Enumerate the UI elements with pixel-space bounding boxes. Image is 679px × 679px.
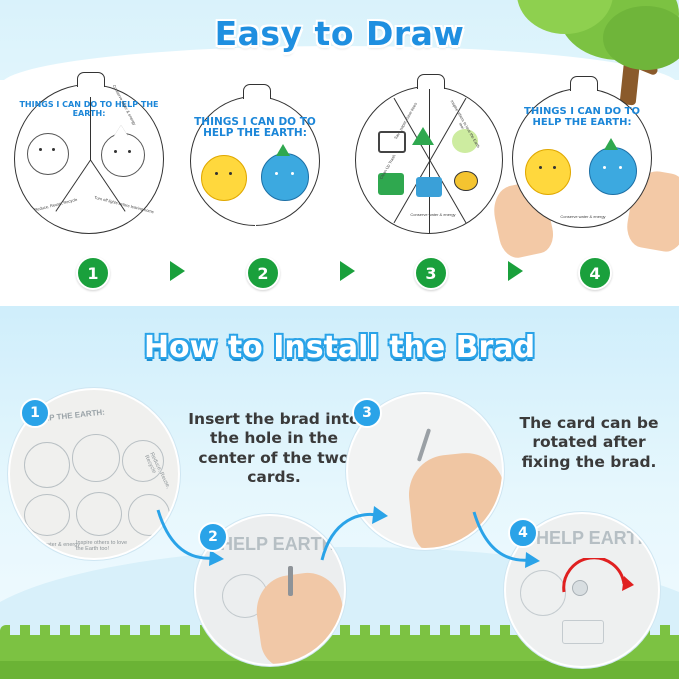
wheel-card-title: THINGS I CAN DO TO HELP THE EARTH: (513, 107, 651, 129)
sun-icon (525, 149, 571, 195)
arrow-icon (170, 261, 185, 281)
install-step-3-text: The card can be rotated after fixing the… (506, 414, 672, 472)
top-step-1-card: THINGS I CAN DO TO HELP THE EARTH: Reduc… (14, 84, 164, 234)
wheel-label: Conserve water & energy (400, 213, 466, 217)
install-badge-2: 2 (198, 522, 228, 552)
wheel-card-title: THINGS I CAN DO TO HELP THE EARTH: (15, 101, 163, 118)
wheel-divider (90, 97, 91, 161)
arrow-icon (340, 261, 355, 281)
arrow-icon (508, 261, 523, 281)
step-badge-1: 1 (76, 256, 110, 290)
frog-outline-icon (76, 492, 122, 536)
wheel-tab (417, 74, 445, 89)
step-badge-2: 2 (246, 256, 280, 290)
wheel-tab (77, 72, 105, 87)
card-outline-shape (562, 620, 604, 644)
water-tap-icon (416, 177, 442, 197)
wheel-tab (243, 84, 271, 99)
recycle-icon (404, 125, 444, 155)
wheel-card-assembled: THINGS I CAN DO TO HELP THE EARTH: Conse… (512, 88, 652, 228)
rotation-arrow-icon (558, 558, 638, 608)
install-badge-4: 4 (508, 518, 538, 548)
top-steps-row: THINGS I CAN DO TO HELP THE EARTH: Reduc… (0, 78, 679, 238)
top-step-4-card: THINGS I CAN DO TO HELP THE EARTH: Conse… (512, 88, 652, 228)
step-badge-4: 4 (578, 256, 612, 290)
earth-outline-icon (101, 133, 145, 177)
wheel-tab (570, 76, 598, 91)
earth-icon (589, 147, 637, 195)
wheel-label: Reduce, Reuse, Recycle (22, 195, 91, 216)
wheel-label: Turn off lights before leaving home (90, 195, 159, 216)
wheel-card-front: THINGS I CAN DO TO HELP THE EARTH: (190, 96, 320, 226)
curve-arrow-2-to-3 (316, 502, 392, 572)
install-badge-3: 3 (352, 398, 382, 428)
wheel-label: Conserve water & energy (549, 215, 617, 219)
top-panel-title: Easy to Draw (0, 14, 679, 53)
infographic-root: Easy to Draw THINGS I CAN DO TO HELP THE… (0, 0, 679, 679)
bottom-panel-title: How to Install the Brad (0, 330, 679, 365)
brad-pin-icon (288, 566, 293, 596)
sun-outline-icon (27, 133, 69, 175)
install-step-2-text: Insert the brad into the hole in the cen… (186, 410, 362, 488)
step-badge-3: 3 (414, 256, 448, 290)
wheel-card-back: Save paper, Save trees Inspire others to… (355, 86, 503, 234)
wheel-card-outline: THINGS I CAN DO TO HELP THE EARTH: Reduc… (14, 84, 164, 234)
wheel-card-title: THINGS I CAN DO TO HELP THE EARTH: (191, 117, 319, 140)
top-step-3-card: Save paper, Save trees Inspire others to… (355, 86, 503, 234)
photo4-card-text: HELP EARTH: (536, 528, 657, 549)
install-badge-1: 1 (20, 398, 50, 428)
top-step-2-card: THINGS I CAN DO TO HELP THE EARTH: (190, 96, 320, 226)
earth-outline-icon (72, 434, 120, 482)
photo1-small-text-a: Conserve water & energy (18, 542, 80, 548)
sun-icon (201, 155, 247, 201)
top-panel: Easy to Draw THINGS I CAN DO TO HELP THE… (0, 0, 679, 306)
hand-holding-brad (252, 568, 346, 666)
earth-icon (261, 153, 309, 201)
bee-icon (454, 171, 478, 191)
brad-pin-icon (417, 428, 431, 462)
sun-outline-icon (24, 494, 70, 536)
photo1-small-text-b: Inspire others to love the Earth too! (76, 540, 136, 552)
bottom-panel: How to Install the Brad TO HELP THE EART… (0, 306, 679, 679)
sun-outline-icon (24, 442, 70, 488)
